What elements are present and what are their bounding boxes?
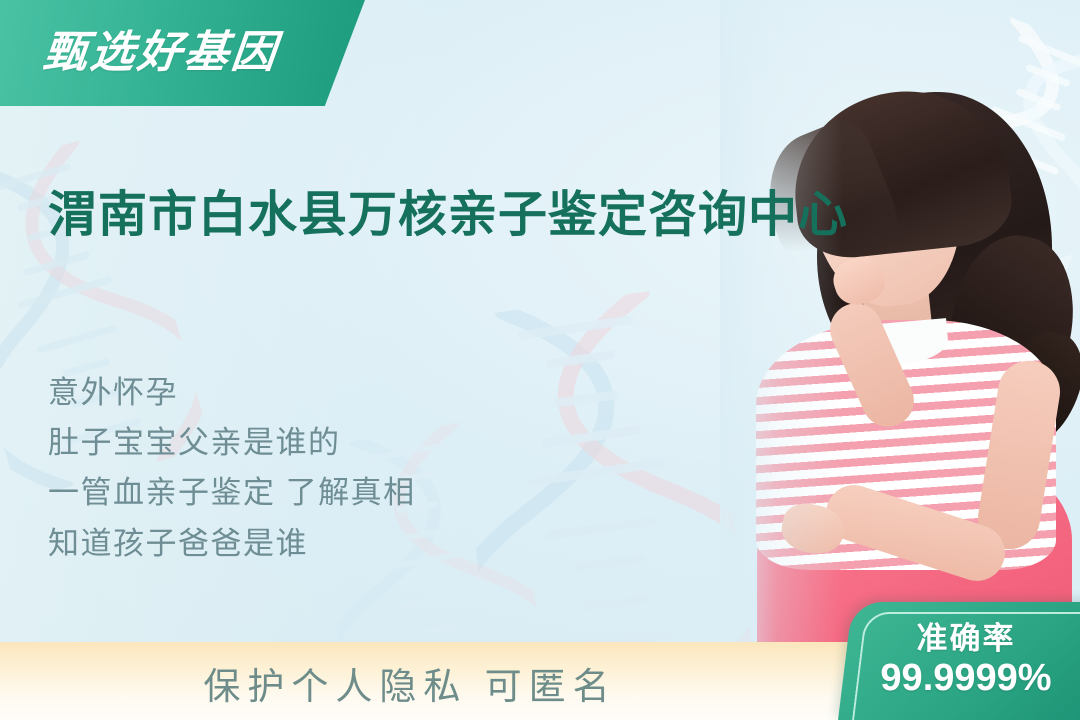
body-line: 意外怀孕 — [48, 368, 608, 418]
privacy-slogan: 保护个人隐私 可匿名 — [0, 656, 820, 710]
accuracy-badge — [838, 602, 1080, 720]
poster-canvas: 甄选好基因 渭南市白水县万核亲子鉴定咨询中心 意外怀孕 肚子宝宝父亲是谁的 一管… — [0, 0, 1080, 720]
brand-logo-banner[interactable]: 甄选好基因 — [0, 0, 371, 106]
body-line: 肚子宝宝父亲是谁的 — [48, 418, 608, 468]
body-line: 知道孩子爸爸是谁 — [48, 519, 608, 569]
body-copy-block: 意外怀孕 肚子宝宝父亲是谁的 一管血亲子鉴定 了解真相 知道孩子爸爸是谁 — [48, 368, 608, 569]
accuracy-badge-border — [852, 612, 1080, 720]
page-title: 渭南市白水县万核亲子鉴定咨询中心 — [48, 183, 858, 248]
brand-logo-text: 甄选好基因 — [41, 16, 283, 80]
body-line: 一管血亲子鉴定 了解真相 — [48, 468, 608, 518]
